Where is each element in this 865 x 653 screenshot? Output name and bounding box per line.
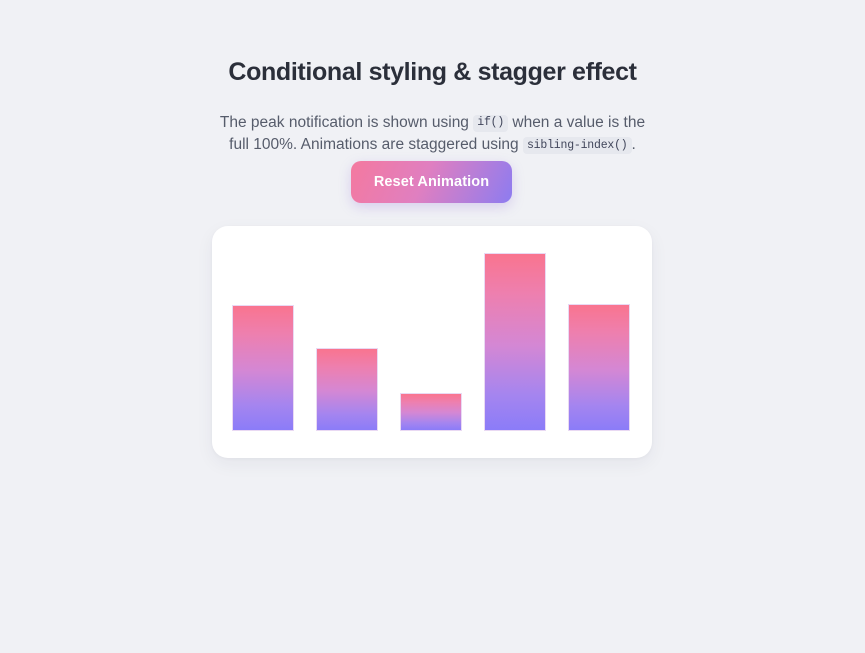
demo-page: Conditional styling & stagger effect The… (0, 0, 865, 653)
chart-bar[interactable] (316, 348, 378, 431)
subtitle-text-part-3: . (632, 136, 636, 153)
page-subtitle: The peak notification is shown using if(… (213, 112, 653, 157)
chart-bar[interactable] (484, 253, 546, 431)
inline-code-sibling-index: sibling-index() (523, 137, 632, 154)
chart-bar[interactable] (400, 393, 462, 431)
inline-code-if: if() (473, 115, 508, 132)
page-title: Conditional styling & stagger effect (0, 57, 865, 87)
chart-card (212, 226, 652, 458)
bar-chart (212, 226, 652, 458)
chart-bar[interactable] (232, 305, 294, 431)
chart-bar[interactable] (568, 304, 630, 431)
reset-animation-button[interactable]: Reset Animation (351, 161, 512, 203)
subtitle-text-part-1: The peak notification is shown using (220, 114, 469, 131)
